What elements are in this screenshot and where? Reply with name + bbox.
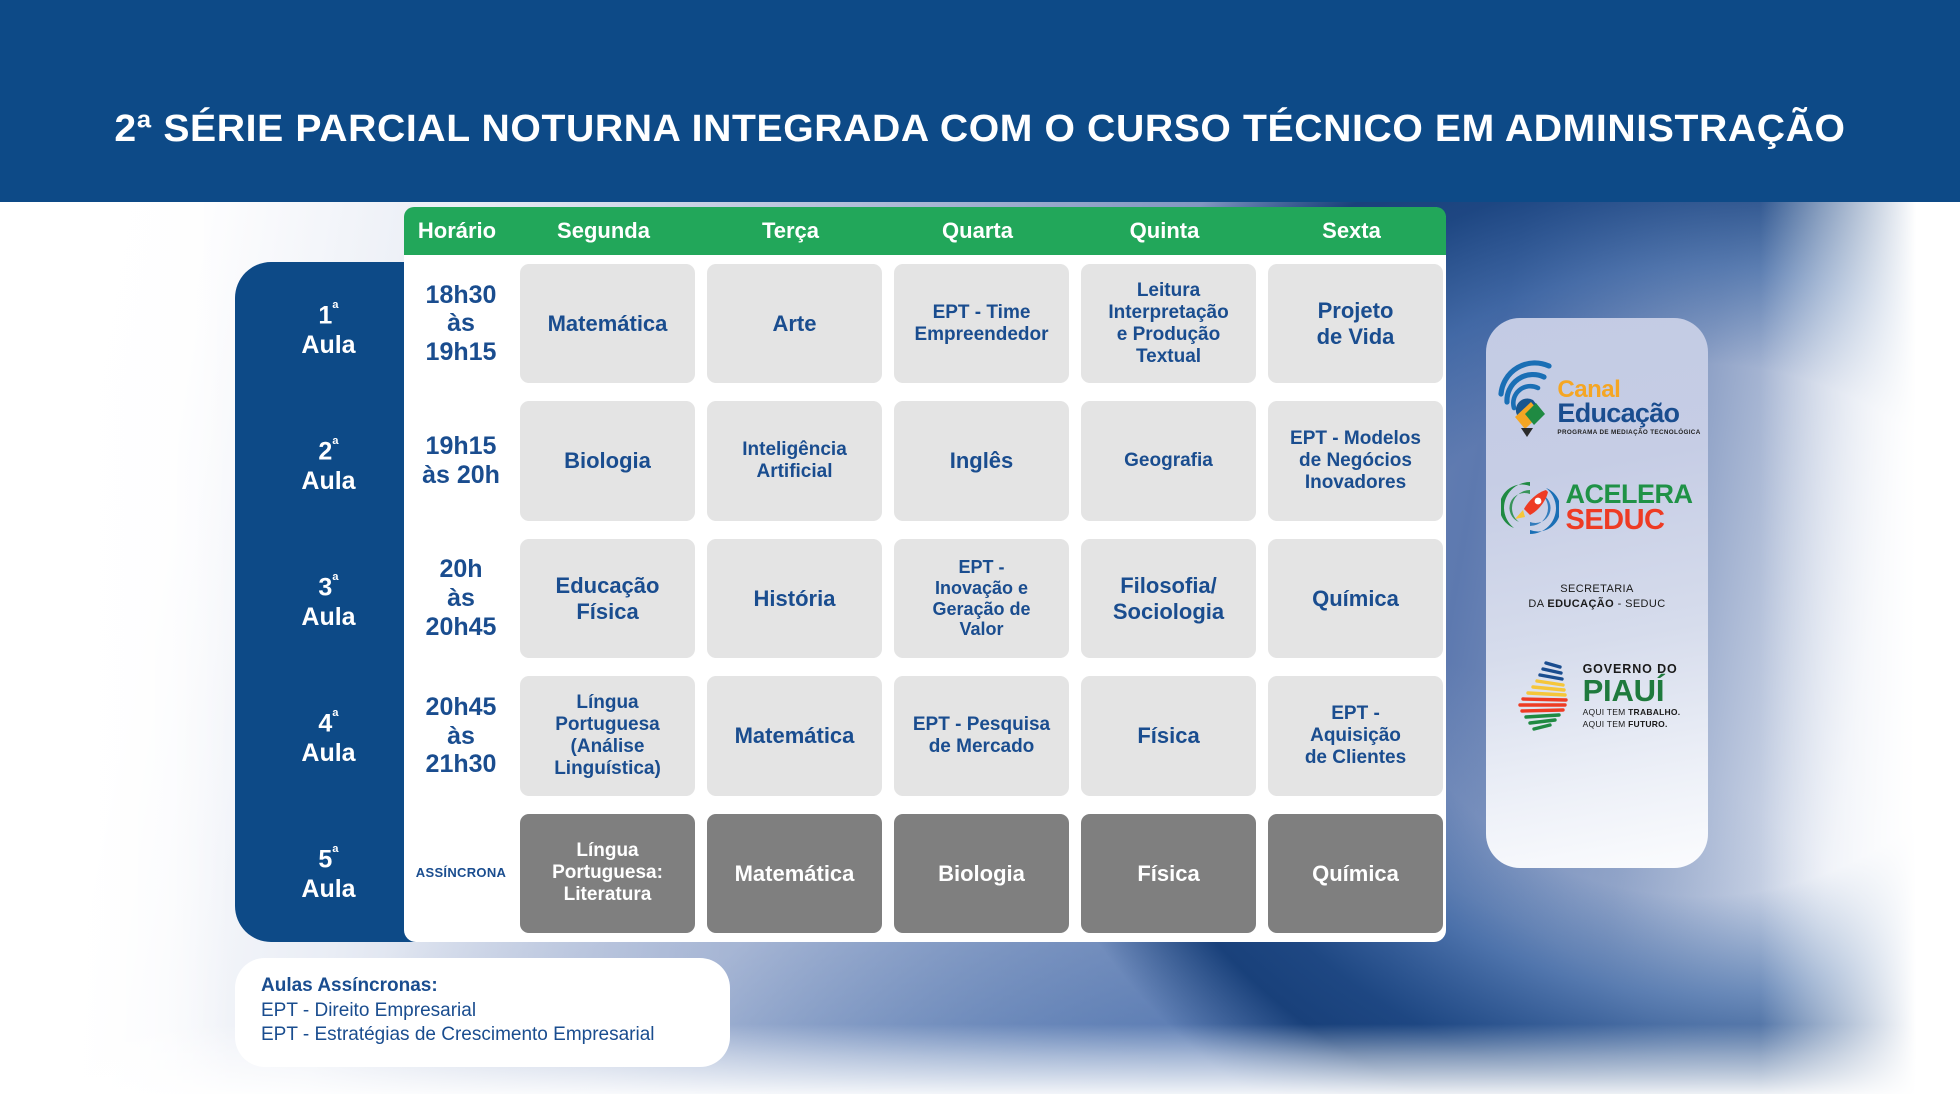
subject-label: EPT - Modelosde NegóciosInovadores — [1268, 401, 1443, 520]
schedule-cell[interactable]: EPT -Aquisiçãode Clientes — [1262, 672, 1449, 799]
piaui-state-map-icon — [1514, 659, 1576, 735]
schedule-cell[interactable]: Física — [1075, 810, 1262, 937]
subject-label: Física — [1081, 814, 1256, 933]
subject-label: EPT -Inovação eGeração deValor — [894, 539, 1069, 658]
table-row: 20h45às21h30LínguaPortuguesa(AnáliseLing… — [404, 667, 1446, 804]
subject-label: Matemática — [707, 814, 882, 933]
schedule-cell[interactable]: EPT - Modelosde NegóciosInovadores — [1262, 397, 1449, 524]
table-row: 19h15às 20hBiologiaInteligênciaArtificia… — [404, 392, 1446, 529]
acelera-seduc-rocket-icon — [1501, 479, 1559, 537]
schedule-cell[interactable]: Física — [1075, 672, 1262, 799]
table-row: ASSÍNCRONALínguaPortuguesa:LiteraturaMat… — [404, 805, 1446, 942]
schedule-cell[interactable]: Biologia — [888, 810, 1075, 937]
column-header-tera: Terça — [697, 218, 884, 244]
schedule-cell[interactable]: Geografia — [1075, 397, 1262, 524]
subject-label: Química — [1268, 814, 1443, 933]
subject-label: InteligênciaArtificial — [707, 401, 882, 520]
async-note-line-2: EPT - Estratégias de Crescimento Empresa… — [261, 1023, 704, 1047]
canal-educacao-antenna-pencil-icon — [1493, 358, 1555, 442]
subject-label: Arte — [707, 264, 882, 383]
time-slot-2: 19h15às 20h — [408, 397, 514, 524]
schedule-poster: 2ª SÉRIE PARCIAL NOTURNA INTEGRADA COM O… — [0, 0, 1960, 1094]
subject-label: Filosofia/Sociologia — [1081, 539, 1256, 658]
subject-label: LínguaPortuguesa:Literatura — [520, 814, 695, 933]
schedule-cell[interactable]: InteligênciaArtificial — [701, 397, 888, 524]
schedule-table-card: HorárioSegundaTerçaQuartaQuintaSexta 18h… — [404, 207, 1446, 942]
schedule-cell[interactable]: EPT - Pesquisade Mercado — [888, 672, 1075, 799]
schedule-cell[interactable]: Química — [1262, 810, 1449, 937]
subject-label: Matemática — [520, 264, 695, 383]
schedule-cell[interactable]: LeituraInterpretaçãoe ProduçãoTextual — [1075, 260, 1262, 387]
subject-label: Matemática — [707, 676, 882, 795]
time-slot-5: ASSÍNCRONA — [408, 810, 514, 937]
time-slot-3: 20hàs20h45 — [408, 535, 514, 662]
schedule-cell[interactable]: EducaçãoFísica — [514, 535, 701, 662]
subject-label: Biologia — [520, 401, 695, 520]
schedule-cell[interactable]: Matemática — [701, 810, 888, 937]
subject-label: LeituraInterpretaçãoe ProduçãoTextual — [1081, 264, 1256, 383]
schedule-cell[interactable]: Biologia — [514, 397, 701, 524]
piaui-subtitle: AQUI TEM TRABALHO. AQUI TEM FUTURO. — [1583, 707, 1681, 730]
time-slot-4: 20h45às21h30 — [408, 672, 514, 799]
background-white-left-fade — [0, 200, 230, 1094]
subject-label: EPT - TimeEmpreendedor — [894, 264, 1069, 383]
subject-label: EPT - Pesquisade Mercado — [894, 676, 1069, 795]
schedule-cell[interactable]: Inglês — [888, 397, 1075, 524]
acelera-seduc-logo: ACELERA SEDUC — [1501, 476, 1692, 540]
subject-label: EPT -Aquisiçãode Clientes — [1268, 676, 1443, 795]
schedule-cell[interactable]: Matemática — [701, 672, 888, 799]
subject-label: História — [707, 539, 882, 658]
secretaria-line-2: DA EDUCAÇÃO - SEDUC — [1528, 597, 1665, 612]
async-note-line-1: EPT - Direito Empresarial — [261, 999, 704, 1023]
schedule-cell[interactable]: Matemática — [514, 260, 701, 387]
schedule-cell[interactable]: LínguaPortuguesa:Literatura — [514, 810, 701, 937]
background-white-right-fade — [1760, 200, 1960, 1094]
governo-piaui-logo: GOVERNO DO PIAUÍ AQUI TEM TRABALHO. AQUI… — [1514, 658, 1681, 736]
canal-subtitle: PROGRAMA DE MEDIAÇÃO TECNOLÓGICA — [1557, 429, 1700, 436]
schedule-cell[interactable]: Química — [1262, 535, 1449, 662]
column-header-horrio: Horário — [404, 218, 510, 244]
table-row: 18h30às19h15MatemáticaArteEPT - TimeEmpr… — [404, 255, 1446, 392]
secretaria-line-1: SECRETARIA — [1528, 582, 1665, 597]
subject-label: Inglês — [894, 401, 1069, 520]
time-slot-1: 18h30às19h15 — [408, 260, 514, 387]
column-header-sexta: Sexta — [1258, 218, 1445, 244]
column-header-segunda: Segunda — [510, 218, 697, 244]
schedule-cell[interactable]: EPT - TimeEmpreendedor — [888, 260, 1075, 387]
schedule-cell[interactable]: EPT -Inovação eGeração deValor — [888, 535, 1075, 662]
subject-label: Química — [1268, 539, 1443, 658]
subject-label: Física — [1081, 676, 1256, 795]
subject-label: LínguaPortuguesa(AnáliseLinguística) — [520, 676, 695, 795]
schedule-cell[interactable]: LínguaPortuguesa(AnáliseLinguística) — [514, 672, 701, 799]
column-header-quinta: Quinta — [1071, 218, 1258, 244]
subject-label: Projetode Vida — [1268, 264, 1443, 383]
table-row: 20hàs20h45EducaçãoFísicaHistóriaEPT -Ino… — [404, 530, 1446, 667]
schedule-cell[interactable]: Projetode Vida — [1262, 260, 1449, 387]
subject-label: Geografia — [1081, 401, 1256, 520]
schedule-cell[interactable]: História — [701, 535, 888, 662]
logos-panel: Canal Educação PROGRAMA DE MEDIAÇÃO TECN… — [1486, 318, 1708, 868]
page-title: 2ª SÉRIE PARCIAL NOTURNA INTEGRADA COM O… — [0, 108, 1960, 151]
acelera-word-2: SEDUC — [1565, 507, 1692, 534]
subject-label: EducaçãoFísica — [520, 539, 695, 658]
async-classes-note: Aulas Assíncronas: EPT - Direito Empresa… — [235, 958, 730, 1067]
schedule-cell[interactable]: Arte — [701, 260, 888, 387]
async-note-title: Aulas Assíncronas: — [261, 975, 704, 997]
schedule-cell[interactable]: Filosofia/Sociologia — [1075, 535, 1262, 662]
table-header-row: HorárioSegundaTerçaQuartaQuintaSexta — [404, 207, 1446, 255]
column-header-quarta: Quarta — [884, 218, 1071, 244]
secretaria-educacao-label: SECRETARIA DA EDUCAÇÃO - SEDUC — [1528, 582, 1665, 612]
title-banner: 2ª SÉRIE PARCIAL NOTURNA INTEGRADA COM O… — [0, 0, 1960, 202]
table-body: 18h30às19h15MatemáticaArteEPT - TimeEmpr… — [404, 255, 1446, 942]
canal-educacao-logo: Canal Educação PROGRAMA DE MEDIAÇÃO TECN… — [1493, 356, 1700, 442]
subject-label: Biologia — [894, 814, 1069, 933]
canal-word-2: Educação — [1557, 401, 1700, 427]
piaui-word-2: PIAUÍ — [1583, 676, 1681, 705]
